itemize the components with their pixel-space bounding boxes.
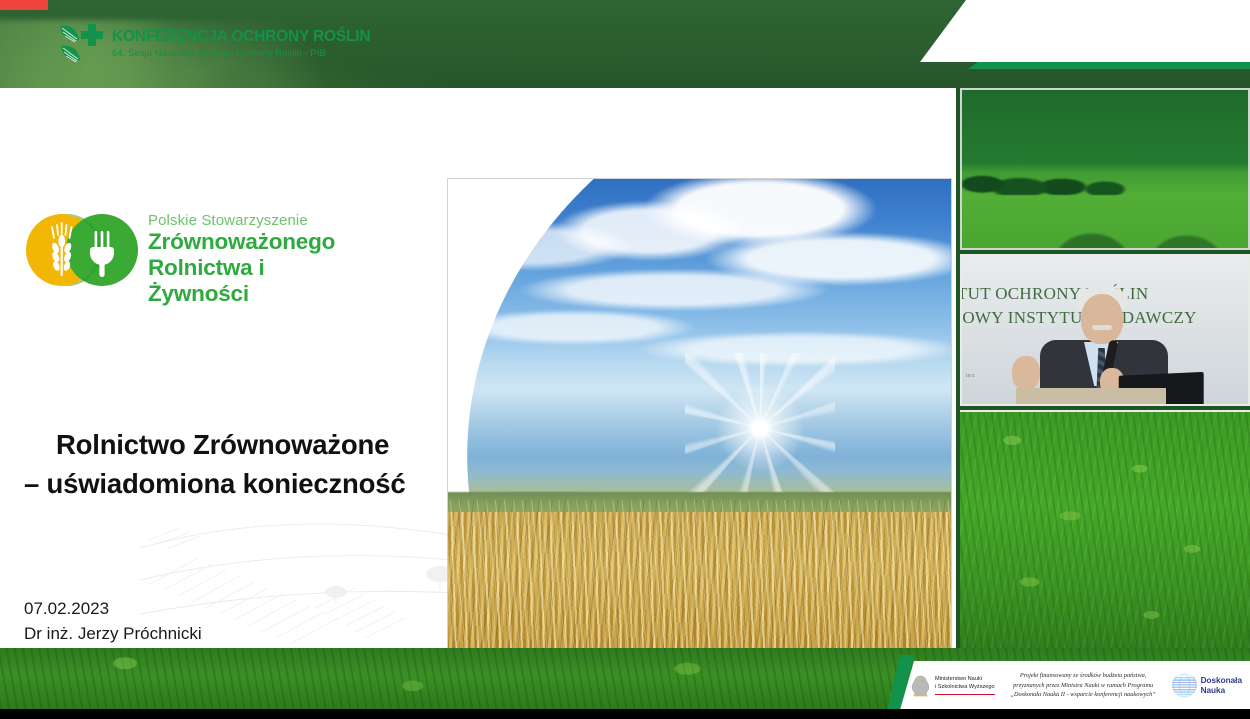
- top-banner: KONFERENCJA OCHRONY ROŚLIN 64. Sesja Nau…: [0, 0, 1250, 88]
- footer-funding-card: Ministerstwo Nauki i Szkolnictwa Wyższeg…: [900, 661, 1250, 710]
- funding-line3: „Doskonała Nauka II - wsparcie konferenc…: [1002, 690, 1165, 700]
- ministry-line2: i Szkolnictwa Wyższego: [935, 684, 995, 692]
- dn-line2: Nauka: [1201, 686, 1242, 696]
- funding-line1: Projekt finansowany ze środków budżetu p…: [1002, 671, 1165, 681]
- association-line1: Polskie Stowarzyszenie: [148, 212, 356, 229]
- conference-title: KONFERENCJA OCHRONY ROŚLIN: [112, 29, 370, 45]
- doskonala-nauka-logo: Doskonała Nauka: [1172, 673, 1242, 698]
- slide-title: Rolnictwo Zrównoważone – uświadomiona ko…: [24, 425, 454, 503]
- conference-text-block: KONFERENCJA OCHRONY ROŚLIN 64. Sesja Nau…: [112, 29, 370, 59]
- slide-area: Polskie Stowarzyszenie Zrównoważonego Ro…: [0, 88, 956, 648]
- slide-title-line1: Rolnictwo Zrównoważone: [24, 425, 454, 464]
- field-image: [960, 88, 1250, 250]
- slide-title-line2: – uświadomiona konieczność: [24, 464, 454, 503]
- backdrop-text-small: IN T.: [966, 373, 975, 378]
- photo-wheat-stalks: [447, 500, 952, 648]
- ministry-name: Ministerstwo Nauki i Szkolnictwa Wyższeg…: [935, 676, 995, 694]
- ministry-line1: Ministerstwo Nauki: [935, 676, 995, 684]
- presentation-stage: KONFERENCJA OCHRONY ROŚLIN 64. Sesja Nau…: [0, 0, 1250, 719]
- recording-indicator: [0, 0, 48, 10]
- dn-line1: Doskonała: [1201, 676, 1242, 686]
- speaker-moustache: [1092, 325, 1112, 330]
- right-column: TUT OCHRONY ROŚLIN WOWY INSTYTUT BADAWCZ…: [956, 88, 1250, 648]
- association-logo: Polskie Stowarzyszenie Zrównoważonego Ro…: [26, 212, 356, 288]
- association-line2: Zrównoważonego: [148, 229, 356, 255]
- slide-meta: 07.02.2023 Dr inż. Jerzy Próchnicki Czło…: [24, 597, 276, 648]
- podium: [1016, 388, 1166, 404]
- funding-line2: przyznanych przez Ministra Nauki w ramac…: [1002, 681, 1165, 691]
- wheat-field-photo: [447, 178, 952, 648]
- speaker-video-feed[interactable]: TUT OCHRONY ROŚLIN WOWY INSTYTUT BADAWCZ…: [960, 254, 1250, 406]
- presentation-author: Dr inż. Jerzy Próchnicki: [24, 622, 276, 647]
- field-image-frame: [960, 88, 1250, 250]
- ministry-logo: Ministerstwo Nauki i Szkolnictwa Wyższeg…: [910, 674, 995, 698]
- doskonala-nauka-globe-icon: [1172, 673, 1197, 698]
- polish-eagle-emblem-icon: [910, 674, 931, 698]
- bottom-black-strip: [0, 709, 1250, 719]
- grass-image: [960, 410, 1250, 648]
- speaker-left-hand: [1012, 356, 1040, 390]
- speaker-head: [1081, 294, 1123, 344]
- backdrop-text-line2: WOWY INSTYTUT BADAWCZY: [960, 308, 1197, 328]
- association-logo-text: Polskie Stowarzyszenie Zrównoważonego Ro…: [148, 212, 356, 308]
- leaf-cross-logo-icon: [58, 22, 106, 68]
- association-logo-marks: [26, 214, 138, 286]
- conference-subtitle: 64. Sesja Naukowa Instytutu Ochrony Rośl…: [112, 48, 370, 60]
- conference-badge-content: KONFERENCJA OCHRONY ROŚLIN 64. Sesja Nau…: [58, 5, 1244, 84]
- association-line3: Rolnictwa i Żywności: [148, 255, 356, 307]
- doskonala-nauka-name: Doskonała Nauka: [1201, 676, 1242, 696]
- funding-statement: Projekt finansowany ze środków budżetu p…: [1002, 671, 1165, 700]
- presentation-date: 07.02.2023: [24, 597, 276, 622]
